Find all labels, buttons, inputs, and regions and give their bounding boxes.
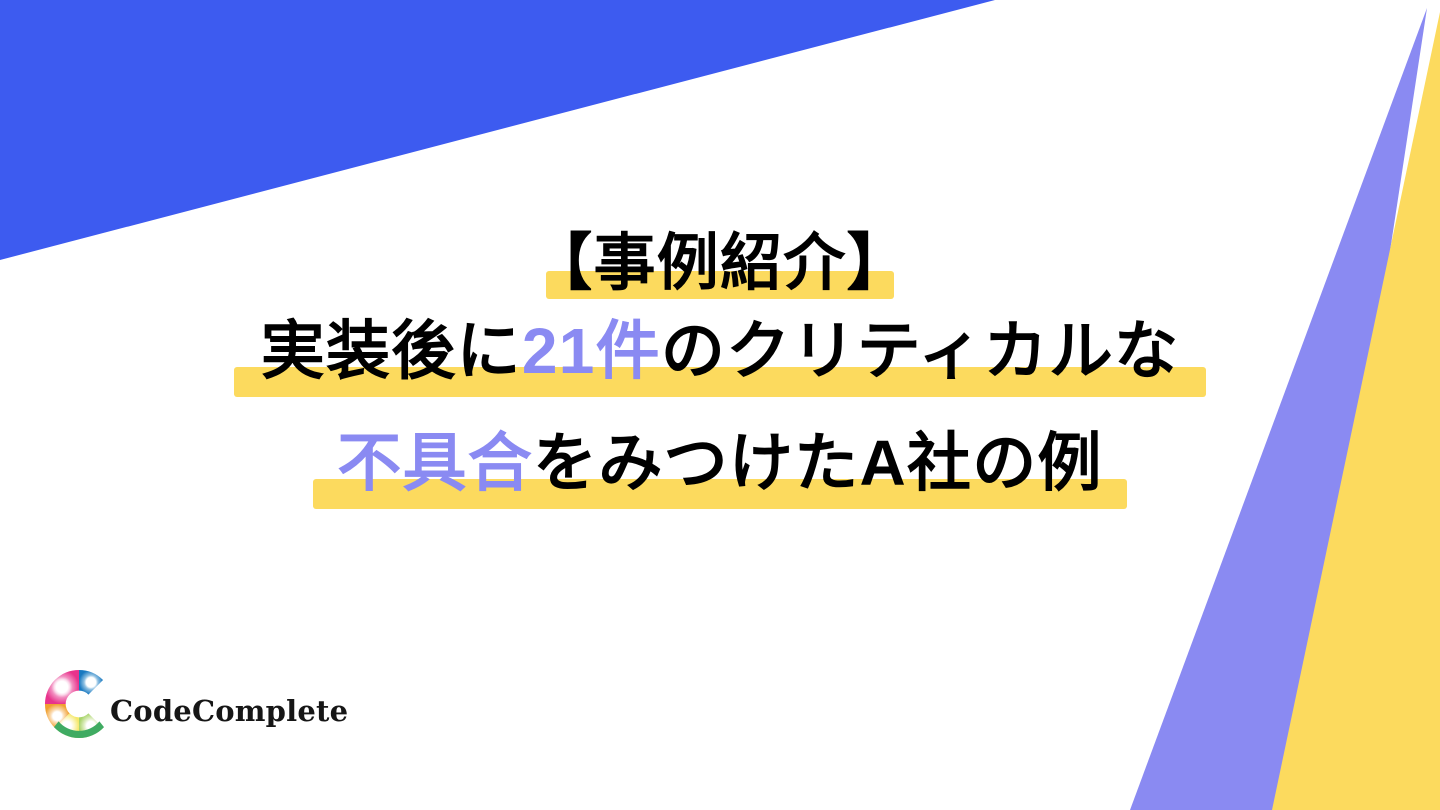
codecomplete-circle-icon [42,655,116,753]
headline-line-1: 【事例紹介】 [0,225,1440,311]
headline-line-2-accent-count: 21件 [522,311,661,391]
headline-line-2: 実装後に21件のクリティカルな [0,311,1440,423]
headline-line-2-segment-3: のクリティカルな [661,311,1179,391]
brand-logo: CodeComplete [42,655,348,753]
logo-segment-magenta [45,670,79,704]
headline-line-2-segment-1: 実装後に [261,311,522,391]
slide-canvas: 【事例紹介】 実装後に21件のクリティカルな 不具合をみつけたA社の例 [0,0,1440,810]
blue-corner-triangle [0,0,995,260]
headline-line-3: 不具合をみつけたA社の例 [0,423,1440,519]
headline-line-3-accent-term: 不具合 [337,423,533,503]
headline-block: 【事例紹介】 実装後に21件のクリティカルな 不具合をみつけたA社の例 [0,225,1440,519]
headline-line-3-segment-2: をみつけたA社の例 [533,423,1103,503]
headline-line-1-text: 【事例紹介】 [530,225,909,303]
logo-segment-blue [79,670,103,695]
logo-wordmark: CodeComplete [110,694,348,728]
